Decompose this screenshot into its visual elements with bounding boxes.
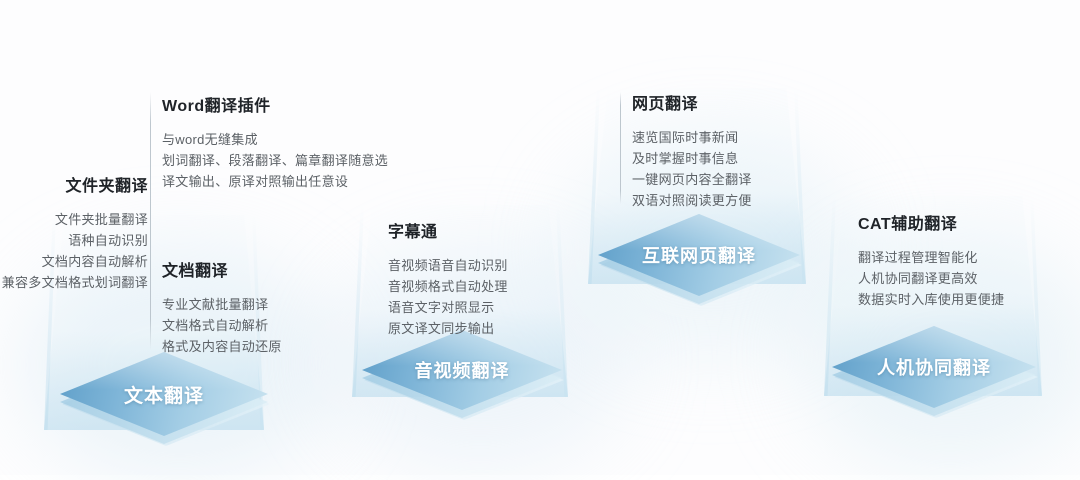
panel-line: 翻译过程管理智能化	[858, 247, 1004, 268]
panel-title-word-plugin: Word翻译插件	[162, 92, 388, 116]
panel-line: 文件夹批量翻译	[0, 209, 148, 230]
panel-title-web-translation: 网页翻译	[632, 90, 752, 114]
panel-line: 人机协同翻译更高效	[858, 268, 1004, 289]
panel-subtitle-tool: 字幕通 音视频语音自动识别 音视频格式自动处理 语音文字对照显示 原文译文同步输…	[388, 218, 508, 339]
panel-title-document-translation: 文档翻译	[162, 257, 282, 281]
panel-line: 与word无缝集成	[162, 129, 388, 150]
panel-folder-translation: 文件夹翻译 文件夹批量翻译 语种自动识别 文档内容自动解析 兼容多文档格式划词翻…	[0, 172, 148, 293]
panel-document-translation: 文档翻译 专业文献批量翻译 文档格式自动解析 格式及内容自动还原	[162, 257, 282, 357]
panel-line: 原文译文同步输出	[388, 318, 508, 339]
panel-line: 音视频语音自动识别	[388, 255, 508, 276]
panel-word-plugin: Word翻译插件 与word无缝集成 划词翻译、段落翻译、篇章翻译随意选 译文输…	[162, 92, 388, 192]
plate-audio-video-translation[interactable]: 音视频翻译	[362, 330, 562, 410]
panel-line: 速览国际时事新闻	[632, 127, 752, 148]
panel-title-folder-translation: 文件夹翻译	[0, 172, 148, 196]
plate-internet-page-translation[interactable]: 互联网页翻译	[598, 214, 800, 296]
panel-line: 语种自动识别	[0, 230, 148, 251]
panel-line: 双语对照阅读更方便	[632, 190, 752, 211]
panel-title-subtitle-tool: 字幕通	[388, 218, 508, 242]
panel-cat-translation: CAT辅助翻译 翻译过程管理智能化 人机协同翻译更高效 数据实时入库使用更便捷	[858, 210, 1004, 310]
panel-line: 数据实时入库使用更便捷	[858, 289, 1004, 310]
panel-line: 音视频格式自动处理	[388, 276, 508, 297]
panel-line: 文档格式自动解析	[162, 315, 282, 336]
panel-line: 兼容多文档格式划词翻译	[0, 272, 148, 293]
panel-line: 译文输出、原译对照输出任意设	[162, 171, 388, 192]
panel-line: 划词翻译、段落翻译、篇章翻译随意选	[162, 150, 388, 171]
plate-text-translation[interactable]: 文本翻译	[60, 352, 268, 436]
plate-label-internet-page-translation: 互联网页翻译	[598, 214, 800, 296]
divider-group-3	[620, 92, 621, 204]
divider-group-1	[150, 92, 151, 350]
panel-line: 专业文献批量翻译	[162, 294, 282, 315]
plate-label-audio-video-translation: 音视频翻译	[362, 330, 562, 410]
panel-line: 一键网页内容全翻译	[632, 169, 752, 190]
plate-label-text-translation: 文本翻译	[60, 352, 268, 436]
infographic-canvas: 文本翻译 文件夹翻译 文件夹批量翻译 语种自动识别 文档内容自动解析 兼容多文档…	[0, 0, 1080, 475]
panel-line: 格式及内容自动还原	[162, 336, 282, 357]
plate-label-human-machine-translation: 人机协同翻译	[832, 326, 1036, 408]
plate-human-machine-translation[interactable]: 人机协同翻译	[832, 326, 1036, 408]
panel-line: 语音文字对照显示	[388, 297, 508, 318]
panel-web-translation: 网页翻译 速览国际时事新闻 及时掌握时事信息 一键网页内容全翻译 双语对照阅读更…	[632, 90, 752, 211]
panel-title-cat-translation: CAT辅助翻译	[858, 210, 1004, 234]
panel-line: 及时掌握时事信息	[632, 148, 752, 169]
panel-line: 文档内容自动解析	[0, 251, 148, 272]
